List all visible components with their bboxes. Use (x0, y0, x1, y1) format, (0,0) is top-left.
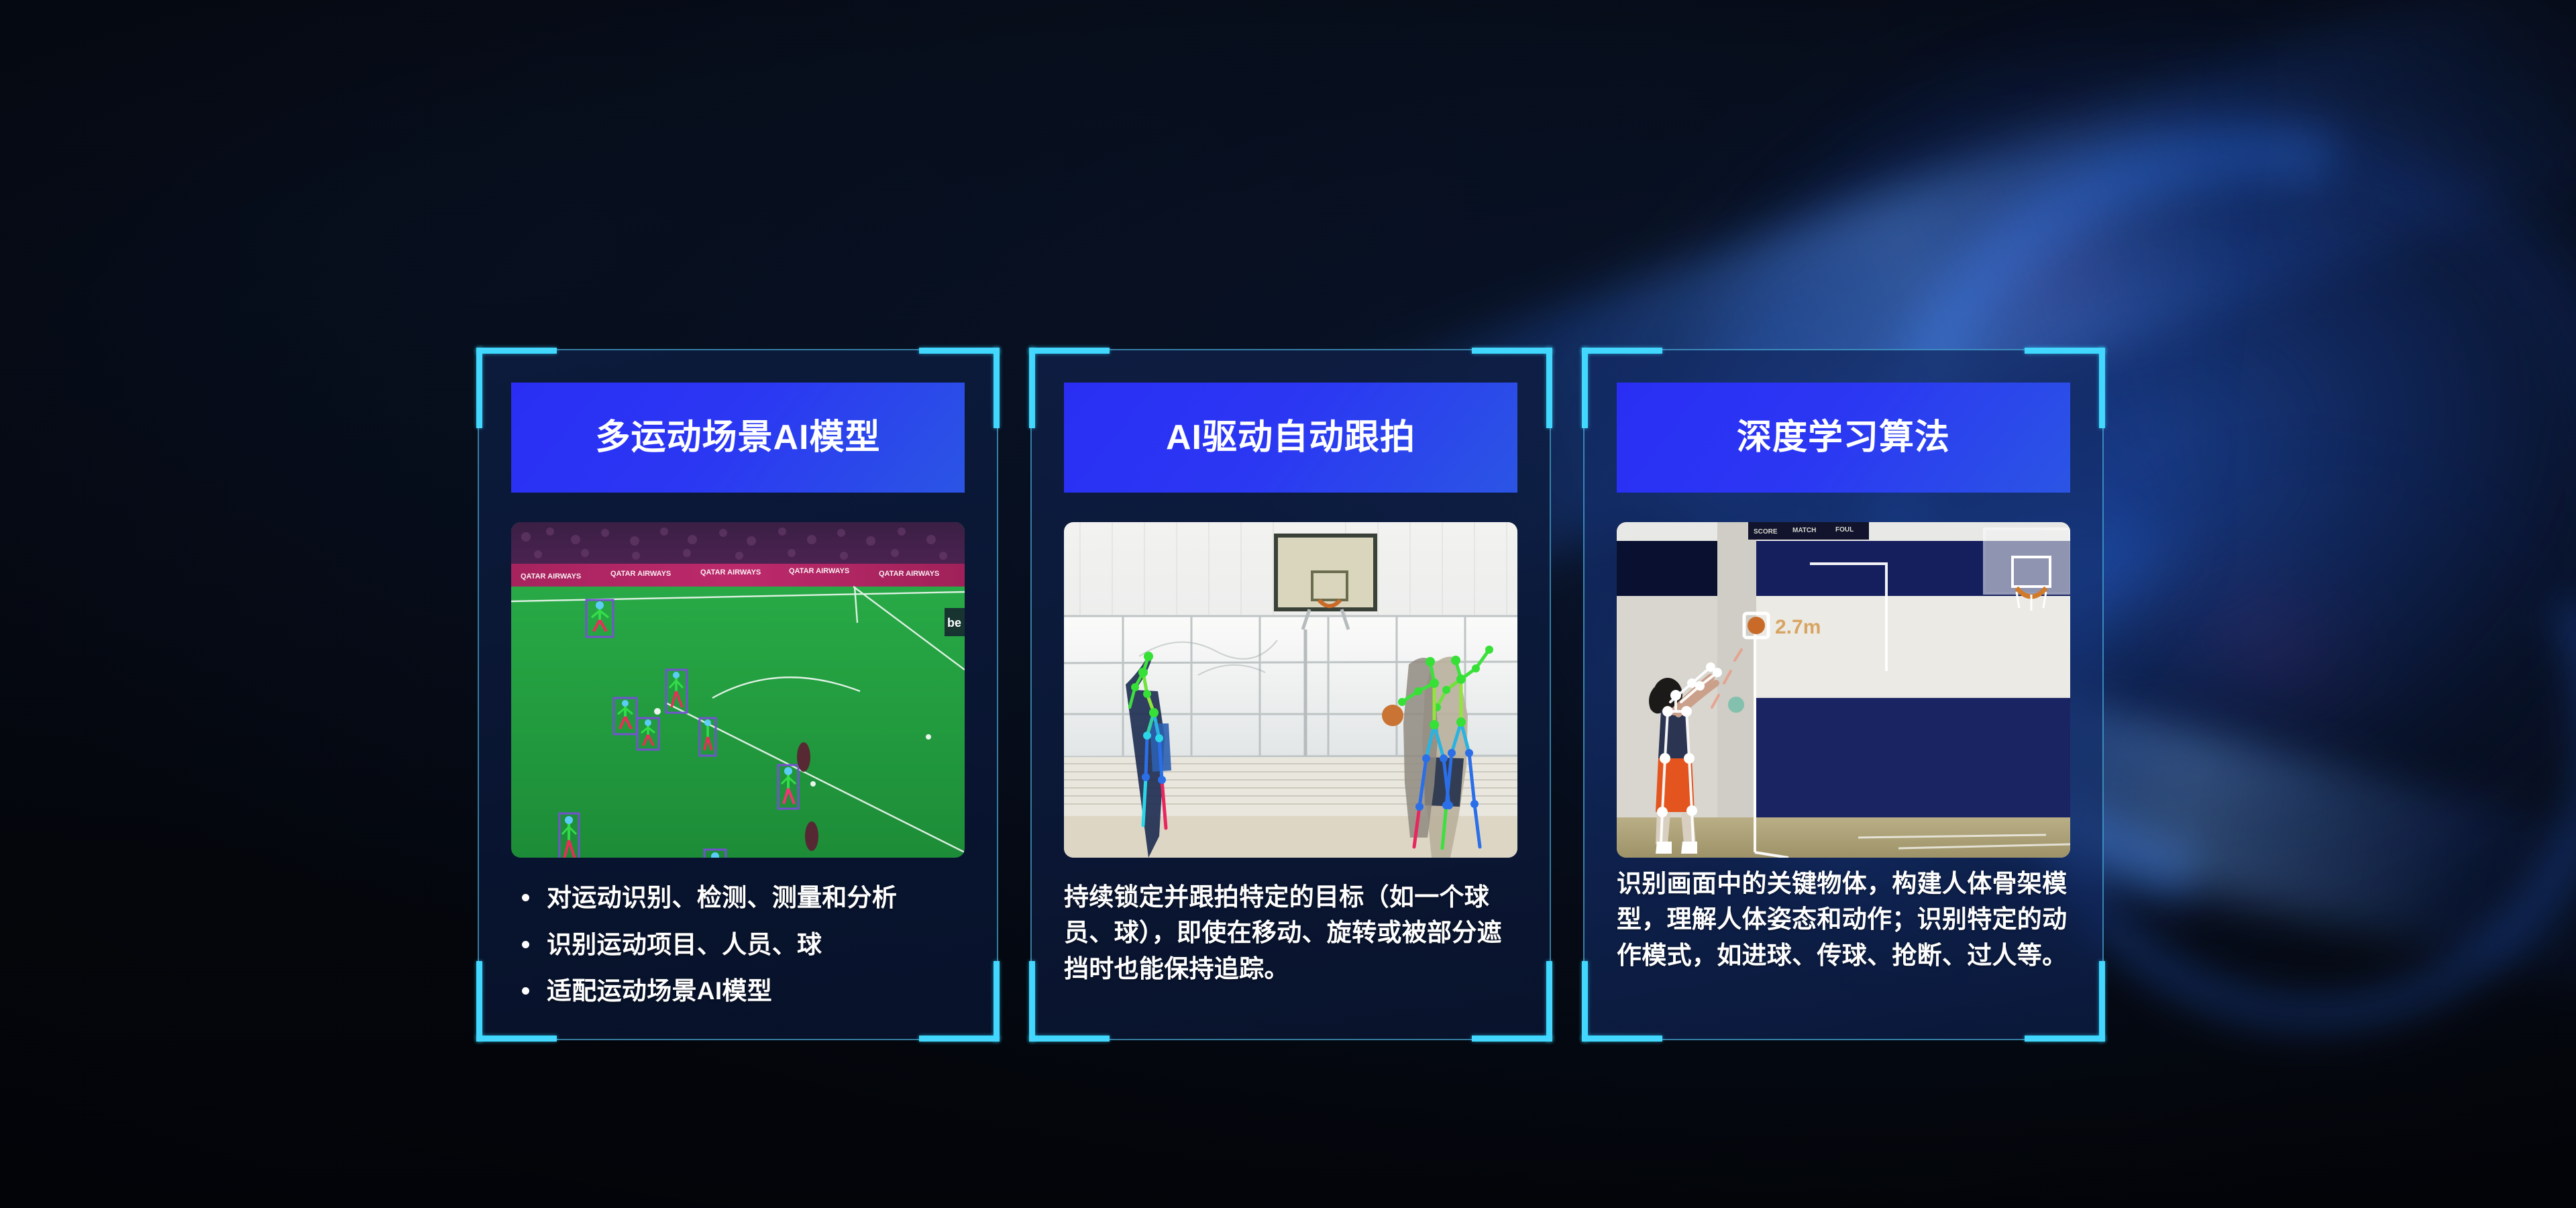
list-item: 对运动识别、检测、测量和分析 (511, 879, 974, 917)
svg-text:QATAR AIRWAYS: QATAR AIRWAYS (789, 567, 849, 575)
card-header-bar: 多运动场景AI模型 (511, 383, 965, 493)
svg-text:SCORE: SCORE (1754, 528, 1778, 536)
soccer-detection-illustration: QATAR AIRWAYS QATAR AIRWAYS QATAR AIRWAY… (511, 522, 965, 858)
card-thumbnail-soccer-detection[interactable]: QATAR AIRWAYS QATAR AIRWAYS QATAR AIRWAY… (511, 522, 965, 858)
card-header-bar: 深度学习算法 (1617, 383, 2070, 493)
height-annotation-label: 2.7m (1775, 616, 1821, 638)
card-body-paragraph: 持续锁定并跟拍特定的目标（如一个球员、球），即使在移动、旋转或被部分遮挡时也能保… (1064, 879, 1527, 987)
feature-bullet-list: 对运动识别、检测、测量和分析 识别运动项目、人员、球 适配运动场景AI模型 (511, 879, 974, 1010)
svg-text:MATCH: MATCH (1792, 527, 1816, 534)
bullet-dot-icon (522, 941, 529, 948)
svg-text:QATAR AIRWAYS: QATAR AIRWAYS (700, 568, 761, 576)
shot-height-illustration: SCOREMATCHFOUL (1617, 522, 2070, 858)
card-thumbnail-basketball-pose[interactable] (1064, 522, 1517, 858)
svg-text:FOUL: FOUL (1835, 526, 1854, 534)
basketball-pose-illustration (1064, 522, 1517, 858)
bullet-label: 识别运动项目、人员、球 (547, 926, 822, 964)
card-header-bar: AI驱动自动跟拍 (1064, 383, 1517, 493)
card-title: AI驱动自动跟拍 (1166, 420, 1415, 455)
card-title: 深度学习算法 (1737, 420, 1950, 455)
slide-canvas: 多运动场景AI模型 (0, 0, 2576, 1208)
bullet-label: 对运动识别、检测、测量和分析 (547, 879, 897, 917)
list-item: 识别运动项目、人员、球 (511, 926, 974, 964)
card-title: 多运动场景AI模型 (595, 420, 880, 455)
bullet-label: 适配运动场景AI模型 (547, 972, 772, 1010)
feature-card-deep-learning-algorithm[interactable]: 深度学习算法 (1583, 349, 2104, 1040)
svg-text:QATAR AIRWAYS: QATAR AIRWAYS (521, 572, 581, 581)
svg-text:QATAR AIRWAYS: QATAR AIRWAYS (879, 570, 939, 578)
card-description: 识别画面中的关键物体，构建人体骨架模型，理解人体姿态和动作；识别特定的动作模式，… (1617, 866, 2080, 973)
card-description: 持续锁定并跟拍特定的目标（如一个球员、球），即使在移动、旋转或被部分遮挡时也能保… (1064, 879, 1527, 987)
svg-text:QATAR AIRWAYS: QATAR AIRWAYS (610, 570, 671, 578)
feature-card-multi-sport-ai-model[interactable]: 多运动场景AI模型 (478, 349, 998, 1040)
card-body-paragraph: 识别画面中的关键物体，构建人体骨架模型，理解人体姿态和动作；识别特定的动作模式，… (1617, 866, 2080, 973)
feature-card-ai-auto-tracking[interactable]: AI驱动自动跟拍 (1030, 349, 1551, 1040)
card-thumbnail-shot-height-measure[interactable]: SCOREMATCHFOUL (1617, 522, 2070, 858)
list-item: 适配运动场景AI模型 (511, 972, 974, 1010)
bullet-dot-icon (522, 987, 529, 995)
feature-card-row: 多运动场景AI模型 (478, 349, 2101, 1040)
card-body-bullets: 对运动识别、检测、测量和分析 识别运动项目、人员、球 适配运动场景AI模型 (511, 879, 974, 1019)
svg-text:be: be (947, 616, 961, 630)
bullet-dot-icon (522, 894, 529, 901)
